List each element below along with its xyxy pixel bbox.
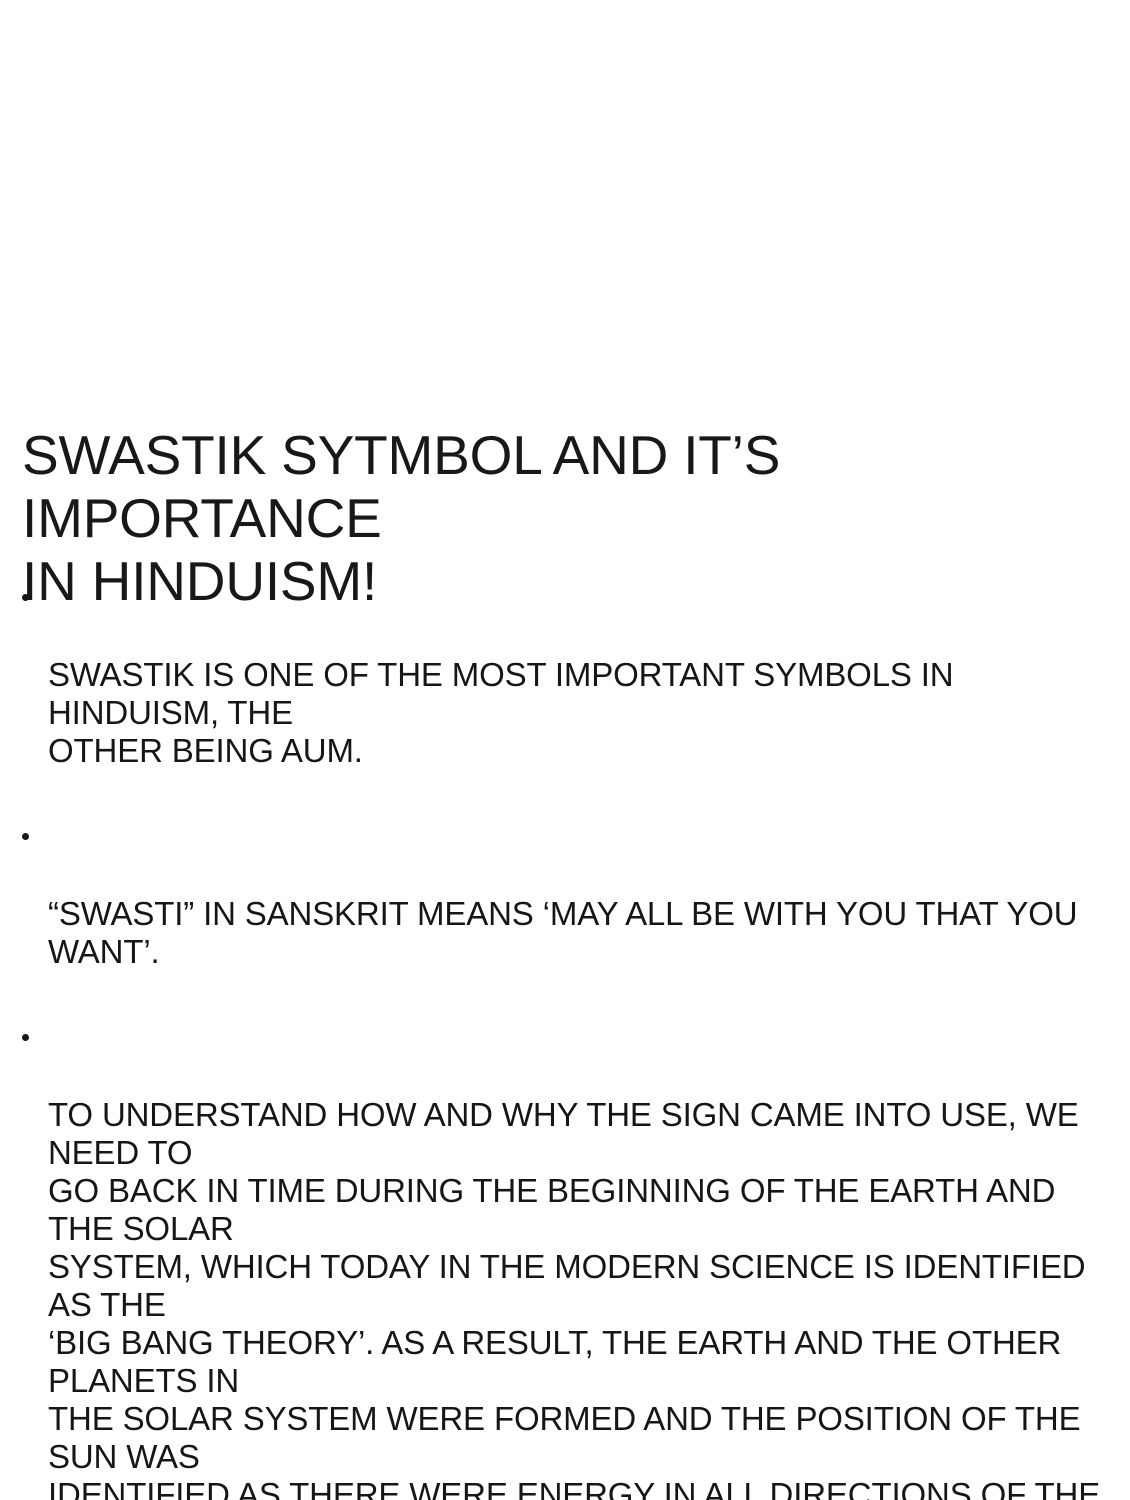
- bullet-dot-icon: [22, 833, 29, 840]
- list-item: SWASTIK IS ONE OF THE MOST IMPORTANT SYM…: [22, 580, 1107, 808]
- list-item: “SWASTI” IN SANSKRIT MEANS ‘MAY ALL BE W…: [22, 819, 1107, 1009]
- bullet-dot-icon: [22, 1034, 29, 1041]
- slide-page: SWASTIK SYTMBOL AND IT’S IMPORTANCE IN H…: [0, 0, 1130, 1500]
- list-item-text: SWASTIK IS ONE OF THE MOST IMPORTANT SYM…: [48, 656, 1107, 770]
- body-content: SWASTIK IS ONE OF THE MOST IMPORTANT SYM…: [22, 580, 1107, 1500]
- bullet-dot-icon: [22, 594, 29, 601]
- list-item-text: TO UNDERSTAND HOW AND WHY THE SIGN CAME …: [48, 1096, 1107, 1500]
- list-item-text: “SWASTI” IN SANSKRIT MEANS ‘MAY ALL BE W…: [48, 895, 1107, 971]
- bullet-list: SWASTIK IS ONE OF THE MOST IMPORTANT SYM…: [22, 580, 1107, 1500]
- list-item: TO UNDERSTAND HOW AND WHY THE SIGN CAME …: [22, 1020, 1107, 1500]
